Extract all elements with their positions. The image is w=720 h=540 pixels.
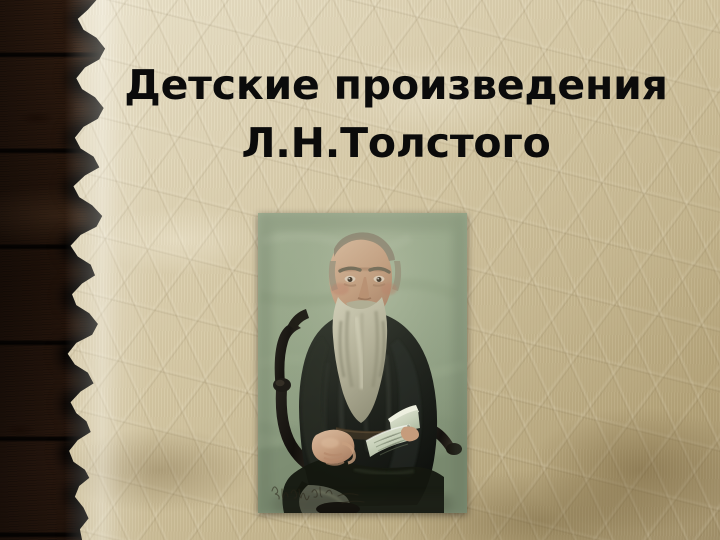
page-title-line-2: Л.Н.Толстого bbox=[96, 114, 696, 172]
title-slide: Детские произведения Л.Н.Толстого bbox=[0, 0, 720, 540]
page-title-line-1: Детские произведения bbox=[96, 56, 696, 114]
page-title: Детские произведения Л.Н.Толстого bbox=[96, 56, 696, 172]
portrait-of-leo-tolstoy bbox=[258, 213, 467, 513]
